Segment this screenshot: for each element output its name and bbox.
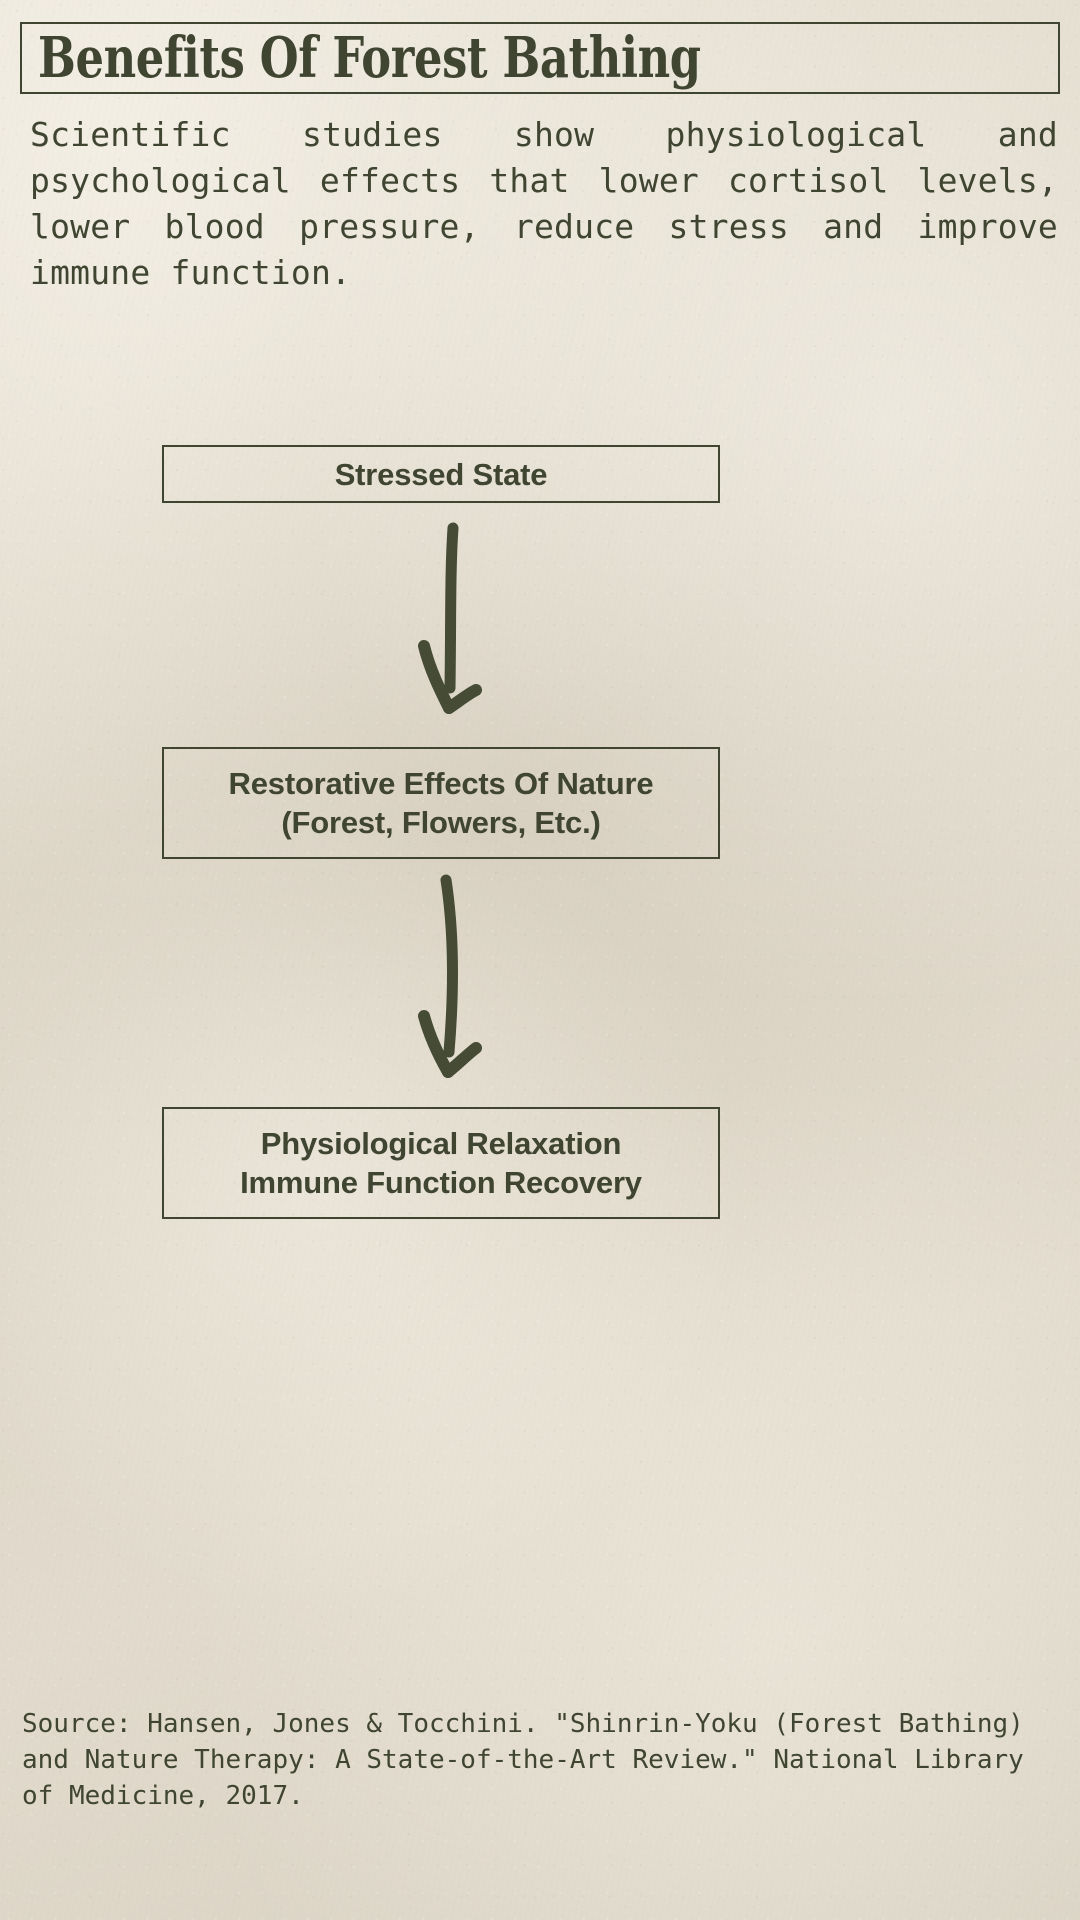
flow-node-line: (Forest, Flowers, Etc.) xyxy=(281,803,600,842)
flow-node-restorative-effects: Restorative Effects Of Nature (Forest, F… xyxy=(162,747,720,859)
poster-content: Benefits Of Forest Bathing Scientific st… xyxy=(0,0,1080,1920)
source-citation: Source: Hansen, Jones & Tocchini. "Shinr… xyxy=(22,1706,1062,1814)
flow-node-physiological-relaxation: Physiological Relaxation Immune Function… xyxy=(162,1107,720,1219)
flow-node-line: Restorative Effects Of Nature xyxy=(229,764,654,803)
poster-page: Benefits Of Forest Bathing Scientific st… xyxy=(0,0,1080,1920)
flow-node-line: Stressed State xyxy=(335,455,548,494)
flow-node-line: Physiological Relaxation xyxy=(261,1124,621,1163)
flow-node-line: Immune Function Recovery xyxy=(240,1163,642,1202)
flow-arrow-down-2 xyxy=(390,872,510,1102)
flow-node-stressed-state: Stressed State xyxy=(162,445,720,503)
flowchart: Stressed State Restorative Effects Of Na… xyxy=(0,0,1080,1920)
flow-arrow-down-1 xyxy=(390,520,510,740)
